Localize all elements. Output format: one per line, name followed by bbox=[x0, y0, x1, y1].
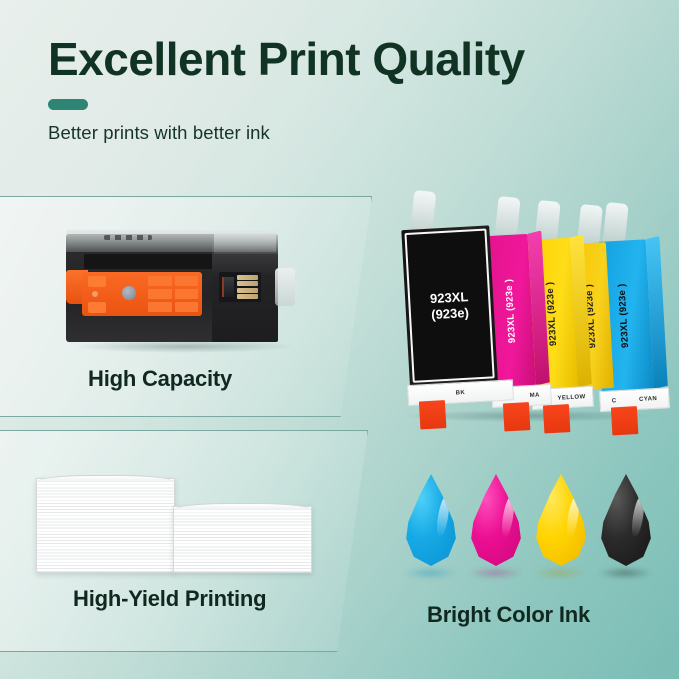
pull-tab bbox=[419, 400, 447, 429]
drop-highlight bbox=[435, 495, 451, 538]
ink-drop-yellow-icon bbox=[534, 474, 588, 566]
drop-highlight bbox=[500, 495, 516, 538]
ink-drop-magenta-icon bbox=[469, 474, 523, 566]
clip-grid-cell bbox=[148, 289, 172, 299]
chip-pad bbox=[237, 288, 258, 293]
paper-stack-small bbox=[173, 506, 312, 573]
cartridge-slot bbox=[84, 254, 232, 269]
drop-shadow bbox=[402, 567, 458, 579]
caption-high-capacity: High Capacity bbox=[88, 366, 232, 392]
high-capacity-cartridge-illustration bbox=[62, 228, 310, 356]
pull-tab bbox=[611, 406, 639, 435]
chip-pad bbox=[237, 281, 258, 286]
cartridge-code-c: C bbox=[612, 398, 617, 404]
pull-tab bbox=[543, 404, 571, 433]
clip-knob bbox=[122, 286, 136, 300]
clip-grid-cell bbox=[148, 276, 172, 286]
protective-tab bbox=[603, 202, 629, 246]
chip-module bbox=[222, 277, 234, 297]
clip-notch bbox=[88, 276, 106, 287]
clip-dot bbox=[92, 291, 98, 297]
dash-accent-icon bbox=[48, 99, 88, 110]
paper-stack-top-edge bbox=[37, 475, 174, 482]
chip-pad bbox=[237, 275, 258, 280]
drop-shadow bbox=[467, 567, 523, 579]
cartridge-model-black: 923XL (923e) bbox=[405, 288, 495, 324]
drop-highlight bbox=[630, 495, 646, 538]
drop-shadow bbox=[597, 567, 653, 579]
cartridge-set-illustration: 923XL (923e ) C CYAN 923XL (923e ) 923XL… bbox=[396, 196, 679, 426]
cartridge-code-ma: MA bbox=[530, 392, 540, 399]
page-subtitle: Better prints with better ink bbox=[48, 122, 270, 144]
clip-grid bbox=[148, 276, 198, 312]
paper-stack-icon bbox=[36, 470, 316, 575]
page-title: Excellent Print Quality bbox=[48, 35, 525, 83]
cartridge-black: 923XL (923e) BK bbox=[401, 225, 498, 386]
clip-grid-cell bbox=[175, 302, 199, 312]
header: Excellent Print Quality Better prints wi… bbox=[0, 0, 679, 185]
protective-tab bbox=[494, 196, 520, 240]
chip-pad bbox=[237, 294, 258, 299]
product-feature-graphic: Excellent Print Quality Better prints wi… bbox=[0, 0, 679, 679]
drop-highlight bbox=[565, 495, 581, 538]
cartridge-code-yellow: YELLOW bbox=[557, 394, 585, 402]
cartridge-side-tab bbox=[275, 268, 295, 306]
cartridge-lid-vents bbox=[104, 235, 152, 240]
pull-tab bbox=[503, 402, 531, 431]
chip-contact-pads bbox=[237, 275, 258, 299]
caption-high-yield: High-Yield Printing bbox=[73, 586, 266, 612]
caption-bright-color-ink: Bright Color Ink bbox=[427, 602, 590, 628]
ink-drops-illustration bbox=[404, 474, 669, 584]
clip-grid-cell bbox=[175, 276, 199, 286]
cartridge-code-bk: BK bbox=[456, 389, 466, 396]
clip-grid-cell bbox=[148, 302, 172, 312]
contact-chip-icon bbox=[219, 272, 261, 302]
cartridge-lid bbox=[66, 230, 276, 252]
clip-notch bbox=[88, 302, 106, 313]
drop-shadow bbox=[532, 567, 588, 579]
paper-stack-top-edge bbox=[174, 503, 311, 510]
clip-grid-cell bbox=[175, 289, 199, 299]
cartridge-code-cyan: CYAN bbox=[639, 395, 657, 402]
protective-tab bbox=[410, 190, 436, 234]
ink-drop-black-icon bbox=[599, 474, 653, 566]
paper-stack-large bbox=[36, 478, 175, 573]
ink-drop-cyan-icon bbox=[404, 474, 458, 566]
